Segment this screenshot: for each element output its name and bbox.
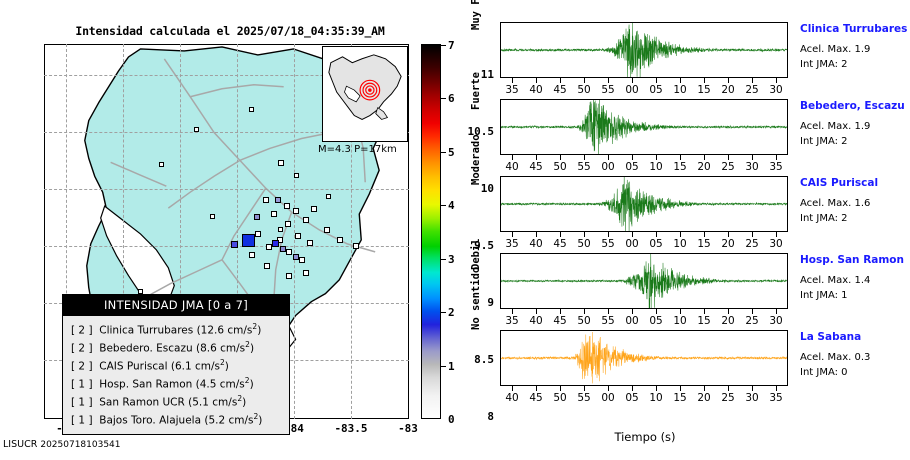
colorbar-tick bbox=[441, 366, 446, 367]
waveform-xaxis-title: Tiempo (s) bbox=[560, 430, 730, 444]
waveform-tick-label: 50 bbox=[573, 84, 595, 96]
station-marker[interactable] bbox=[278, 227, 283, 232]
lat-tick-label: 8 bbox=[454, 410, 494, 423]
waveform-tick-label: 25 bbox=[741, 238, 763, 250]
station-marker[interactable] bbox=[324, 227, 330, 233]
waveform-trace bbox=[501, 177, 787, 231]
waveform-axis-labels: 354045505500051015202530 bbox=[493, 238, 795, 252]
legend-row-station: CAIS Puriscal bbox=[99, 361, 167, 373]
legend-row-level: [ 2 ] bbox=[71, 343, 93, 355]
colorbar-tick bbox=[441, 152, 446, 153]
waveform-tick-label: 55 bbox=[573, 161, 595, 173]
waveform-tick-label: 05 bbox=[621, 161, 643, 173]
station-marker[interactable] bbox=[138, 289, 143, 294]
waveform-station-name: La Sabana bbox=[800, 331, 861, 343]
waveform-tick-label: 10 bbox=[645, 161, 667, 173]
legend-row-level: [ 2 ] bbox=[71, 361, 93, 373]
waveform-jma-intensity: Int JMA: 2 bbox=[800, 136, 848, 147]
waveform-peak-acceleration: Acel. Max. 1.6 bbox=[800, 198, 870, 209]
waveform-tick-label: 50 bbox=[549, 392, 571, 404]
legend-station-list: [ 2 ] Clinica Turrubares (12.6 cm/s2)[ 2… bbox=[63, 316, 289, 434]
station-marker[interactable] bbox=[293, 208, 299, 214]
waveform-trace bbox=[501, 331, 787, 385]
station-marker[interactable] bbox=[210, 214, 215, 219]
waveform-tick-label: 10 bbox=[669, 84, 691, 96]
lon-tick-label: -83.5 bbox=[328, 422, 374, 435]
waveform-tick-label: 25 bbox=[741, 315, 763, 327]
waveform-tick-label: 15 bbox=[669, 392, 691, 404]
waveform-tick-label: 15 bbox=[669, 161, 691, 173]
waveform-trace bbox=[501, 100, 787, 154]
station-marker[interactable] bbox=[231, 241, 238, 248]
waveform-tick-label: 10 bbox=[669, 238, 691, 250]
waveform-jma-intensity: Int JMA: 1 bbox=[800, 290, 848, 301]
waveform-tick-label: 15 bbox=[693, 84, 715, 96]
legend-row: [ 1 ] San Ramon UCR (5.1 cm/s2) bbox=[71, 392, 283, 410]
waveform-tick-label: 30 bbox=[741, 392, 763, 404]
footer-org: LISUCR bbox=[3, 439, 37, 450]
waveform-tick-label: 55 bbox=[597, 84, 619, 96]
waveform-tick-label: 10 bbox=[645, 392, 667, 404]
waveform-tick-label: 20 bbox=[717, 238, 739, 250]
colorbar-value: 1 bbox=[448, 360, 455, 373]
waveform-tick-label: 30 bbox=[765, 238, 787, 250]
station-marker[interactable] bbox=[275, 197, 281, 203]
station-marker[interactable] bbox=[299, 257, 305, 263]
waveform-tick-label: 50 bbox=[573, 238, 595, 250]
waveform-tick-label: 30 bbox=[765, 315, 787, 327]
colorbar-category: Debil bbox=[470, 238, 482, 270]
inset-map-svg bbox=[323, 47, 407, 141]
station-marker[interactable] bbox=[280, 246, 286, 252]
waveform-station-name: Bebedero, Escazu bbox=[800, 100, 905, 112]
station-marker[interactable] bbox=[303, 270, 309, 276]
station-marker[interactable] bbox=[353, 243, 359, 249]
lon-tick-label: -83 bbox=[385, 422, 431, 435]
waveform-tick-label: 35 bbox=[501, 315, 523, 327]
waveform-tick-label: 30 bbox=[765, 84, 787, 96]
waveform-tick-label: 45 bbox=[549, 315, 571, 327]
colorbar-value: 5 bbox=[448, 146, 455, 159]
station-marker[interactable] bbox=[337, 237, 343, 243]
legend-row-level: [ 2 ] bbox=[71, 325, 93, 337]
waveform-tick-label: 00 bbox=[597, 392, 619, 404]
station-marker[interactable] bbox=[293, 254, 299, 260]
waveform-tick-label: 45 bbox=[549, 238, 571, 250]
waveform-axis-labels: 404550550005101520253035 bbox=[493, 392, 795, 406]
legend-row-paren: ) bbox=[225, 361, 229, 373]
colorbar-category: Moderado bbox=[470, 134, 482, 185]
legend-row-station: Hosp. San Ramon bbox=[99, 379, 192, 391]
station-marker[interactable] bbox=[255, 231, 261, 237]
waveform-trace bbox=[501, 254, 787, 308]
colorbar-value: 2 bbox=[448, 306, 455, 319]
waveform-axis-labels: 354045505500051015202530 bbox=[493, 315, 795, 329]
waveform-tick-label: 00 bbox=[597, 161, 619, 173]
legend-row: [ 2 ] Bebedero. Escazu (8.6 cm/s2) bbox=[71, 338, 283, 356]
waveform-tick-label: 35 bbox=[765, 161, 787, 173]
intensity-legend: INTENSIDAD JMA [0 a 7] [ 2 ] Clinica Tur… bbox=[62, 294, 290, 435]
waveform-tick-label: 40 bbox=[501, 161, 523, 173]
legend-row-value: (6.1 cm/s bbox=[171, 361, 220, 373]
station-marker[interactable] bbox=[294, 173, 299, 178]
waveform-tick-label: 25 bbox=[741, 84, 763, 96]
waveform-tick-label: 10 bbox=[669, 315, 691, 327]
legend-row-paren: ) bbox=[250, 379, 254, 391]
legend-row-paren: ) bbox=[250, 343, 254, 355]
waveform-tick-label: 45 bbox=[549, 84, 571, 96]
waveform-tick-label: 15 bbox=[693, 315, 715, 327]
waveform-panel[interactable] bbox=[500, 253, 788, 309]
legend-row: [ 1 ] Bajos Toro. Alajuela (5.2 cm/s2) bbox=[71, 410, 283, 428]
colorbar-tick bbox=[441, 259, 446, 260]
legend-row-level: [ 1 ] bbox=[71, 397, 93, 409]
footer-id: 20250718103541 bbox=[40, 440, 120, 450]
station-marker[interactable] bbox=[249, 107, 254, 112]
waveform-tick-label: 20 bbox=[693, 392, 715, 404]
legend-row-value: (5.1 cm/s bbox=[188, 397, 237, 409]
waveform-station-name: CAIS Puriscal bbox=[800, 177, 878, 189]
waveform-tick-label: 20 bbox=[717, 315, 739, 327]
waveform-tick-label: 25 bbox=[717, 392, 739, 404]
legend-row-paren: ) bbox=[257, 325, 261, 337]
station-marker[interactable] bbox=[254, 214, 260, 220]
waveform-panel[interactable] bbox=[500, 330, 788, 386]
waveform-tick-label: 50 bbox=[573, 315, 595, 327]
colorbar-category: Muy Fuerte bbox=[470, 0, 482, 30]
legend-row-value: (4.5 cm/s bbox=[196, 379, 245, 391]
waveform-trace bbox=[501, 23, 787, 77]
station-marker[interactable] bbox=[285, 221, 291, 227]
waveform-tick-label: 40 bbox=[525, 315, 547, 327]
colorbar-value: 4 bbox=[448, 199, 455, 212]
waveform-tick-label: 40 bbox=[501, 392, 523, 404]
colorbar-value: 3 bbox=[448, 253, 455, 266]
colorbar-tick bbox=[441, 98, 446, 99]
page-title: Intensidad calculada el 2025/07/18_04:35… bbox=[40, 24, 420, 38]
waveform-tick-label: 40 bbox=[525, 238, 547, 250]
waveform-panel[interactable] bbox=[500, 176, 788, 232]
legend-row: [ 2 ] Clinica Turrubares (12.6 cm/s2) bbox=[71, 320, 283, 338]
waveform-peak-acceleration: Acel. Max. 1.9 bbox=[800, 121, 870, 132]
waveform-tick-label: 35 bbox=[501, 84, 523, 96]
waveform-jma-intensity: Int JMA: 2 bbox=[800, 59, 848, 70]
waveform-station-name: Hosp. San Ramon bbox=[800, 254, 904, 266]
footer: LISUCR 20250718103541 bbox=[3, 439, 121, 450]
station-marker[interactable] bbox=[326, 194, 331, 199]
waveform-peak-acceleration: Acel. Max. 0.3 bbox=[800, 352, 870, 363]
colorbar-tick bbox=[441, 312, 446, 313]
legend-row-station: Clinica Turrubares bbox=[99, 325, 193, 337]
station-marker[interactable] bbox=[284, 203, 290, 209]
waveform-tick-label: 55 bbox=[597, 315, 619, 327]
colorbar-value: 6 bbox=[448, 92, 455, 105]
event-magnitude-depth: M=4.3 P=17km bbox=[318, 144, 418, 155]
waveform-tick-label: 45 bbox=[525, 161, 547, 173]
waveform-tick-label: 15 bbox=[693, 238, 715, 250]
waveform-tick-label: 50 bbox=[549, 161, 571, 173]
waveform-panel[interactable] bbox=[500, 99, 788, 155]
station-marker[interactable] bbox=[263, 197, 269, 203]
waveform-tick-label: 30 bbox=[741, 161, 763, 173]
station-marker[interactable] bbox=[278, 160, 284, 166]
legend-row-station: Bajos Toro. Alajuela bbox=[99, 415, 201, 427]
waveform-tick-label: 40 bbox=[525, 84, 547, 96]
legend-title: INTENSIDAD JMA [0 a 7] bbox=[63, 295, 289, 316]
waveform-tick-label: 20 bbox=[717, 84, 739, 96]
station-marker[interactable] bbox=[271, 211, 277, 217]
legend-row-level: [ 1 ] bbox=[71, 379, 93, 391]
waveform-tick-label: 05 bbox=[645, 84, 667, 96]
waveform-jma-intensity: Int JMA: 2 bbox=[800, 213, 848, 224]
waveform-tick-label: 35 bbox=[765, 392, 787, 404]
colorbar-tick bbox=[441, 45, 446, 46]
waveform-tick-label: 45 bbox=[525, 392, 547, 404]
colorbar-tick bbox=[441, 205, 446, 206]
colorbar-category: Fuerte bbox=[470, 72, 482, 110]
waveform-tick-label: 05 bbox=[645, 238, 667, 250]
legend-row-value: (12.6 cm/s bbox=[197, 325, 253, 337]
colorbar-category: No sentido bbox=[470, 267, 482, 330]
waveform-axis-labels: 354045505500051015202530 bbox=[493, 84, 795, 98]
legend-row-station: San Ramon UCR bbox=[99, 397, 185, 409]
station-marker[interactable] bbox=[307, 240, 313, 246]
waveform-tick-label: 00 bbox=[621, 84, 643, 96]
legend-row-level: [ 1 ] bbox=[71, 415, 93, 427]
waveform-tick-label: 25 bbox=[717, 161, 739, 173]
waveform-tick-label: 00 bbox=[621, 238, 643, 250]
station-marker[interactable] bbox=[194, 127, 199, 132]
station-marker[interactable] bbox=[286, 273, 292, 279]
waveform-peak-acceleration: Acel. Max. 1.4 bbox=[800, 275, 870, 286]
colorbar-value: 0 bbox=[448, 413, 455, 426]
waveform-tick-label: 05 bbox=[621, 392, 643, 404]
waveform-tick-label: 20 bbox=[693, 161, 715, 173]
waveform-tick-label: 35 bbox=[501, 238, 523, 250]
station-marker[interactable] bbox=[249, 252, 255, 258]
legend-row-paren: ) bbox=[258, 415, 262, 427]
waveform-peak-acceleration: Acel. Max. 1.9 bbox=[800, 44, 870, 55]
station-marker[interactable] bbox=[242, 234, 255, 247]
station-marker[interactable] bbox=[159, 162, 164, 167]
waveform-jma-intensity: Int JMA: 0 bbox=[800, 367, 848, 378]
station-marker[interactable] bbox=[272, 240, 279, 247]
legend-row: [ 2 ] CAIS Puriscal (6.1 cm/s2) bbox=[71, 356, 283, 374]
lat-tick-label: 8.5 bbox=[454, 353, 494, 366]
legend-row: [ 1 ] Hosp. San Ramon (4.5 cm/s2) bbox=[71, 374, 283, 392]
station-marker[interactable] bbox=[295, 233, 301, 239]
station-marker[interactable] bbox=[303, 217, 309, 223]
waveform-axis-labels: 404550550005101520253035 bbox=[493, 161, 795, 175]
legend-row-station: Bebedero. Escazu bbox=[99, 343, 192, 355]
waveform-tick-label: 55 bbox=[597, 238, 619, 250]
inset-locator-map[interactable] bbox=[322, 46, 408, 142]
waveform-station-name: Clinica Turrubares bbox=[800, 23, 907, 35]
colorbar-value: 7 bbox=[448, 39, 455, 52]
station-marker[interactable] bbox=[286, 249, 292, 255]
legend-row-paren: ) bbox=[242, 397, 246, 409]
waveform-tick-label: 55 bbox=[573, 392, 595, 404]
waveform-tick-label: 00 bbox=[621, 315, 643, 327]
waveform-tick-label: 05 bbox=[645, 315, 667, 327]
station-marker[interactable] bbox=[264, 263, 270, 269]
legend-row-value: (5.2 cm/s bbox=[204, 415, 253, 427]
intensity-colorbar bbox=[421, 44, 441, 419]
legend-row-value: (8.6 cm/s bbox=[196, 343, 245, 355]
station-marker[interactable] bbox=[311, 206, 317, 212]
waveform-panel[interactable] bbox=[500, 22, 788, 78]
